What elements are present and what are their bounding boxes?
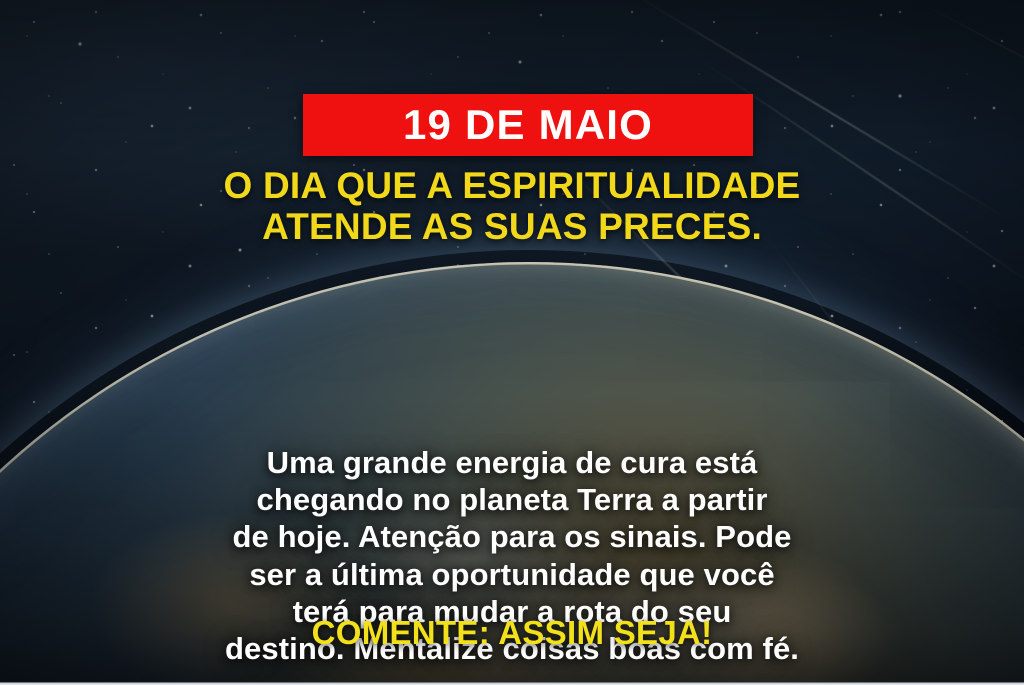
poster-content: 19 DE MAIO O DIA QUE A ESPIRITUALIDADE A… — [0, 0, 1024, 685]
call-to-action-text: COMENTE: ASSIM SEJA! — [62, 614, 962, 652]
headline-line-1: O DIA QUE A ESPIRITUALIDADE — [224, 165, 801, 206]
headline-line-2: ATENDE AS SUAS PRECES. — [62, 207, 962, 248]
poster-canvas: 19 DE MAIO O DIA QUE A ESPIRITUALIDADE A… — [0, 0, 1024, 685]
date-banner-label: 19 DE MAIO — [403, 104, 653, 146]
headline: O DIA QUE A ESPIRITUALIDADE ATENDE AS SU… — [62, 166, 962, 247]
body-line: de hoje. Atenção para os sinais. Pode — [72, 518, 952, 555]
body-line: ser a última oportunidade que você — [72, 556, 952, 593]
body-line: chegando no planeta Terra a partir — [72, 481, 952, 518]
date-banner: 19 DE MAIO — [303, 94, 753, 156]
body-line: Uma grande energia de cura está — [72, 444, 952, 481]
